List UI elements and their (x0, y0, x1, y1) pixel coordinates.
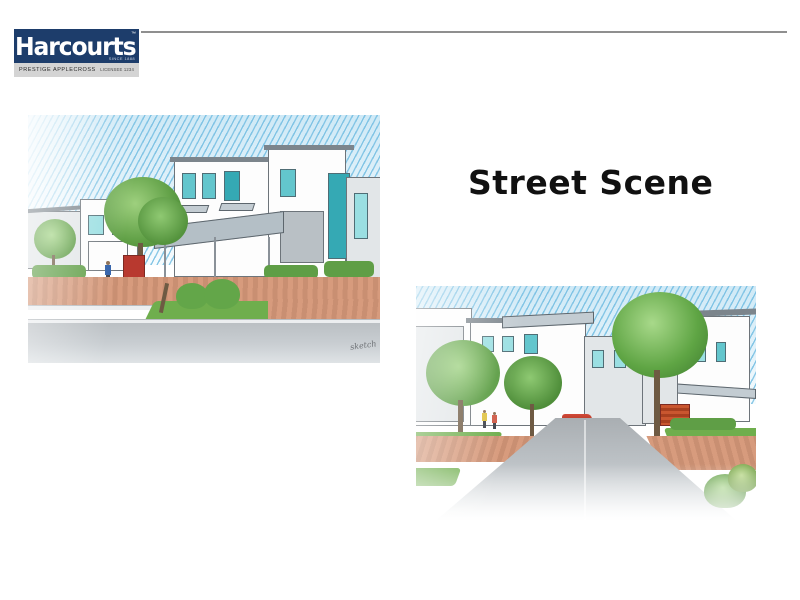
streetscape-render-left: sketch (28, 115, 380, 363)
roof-centre (170, 157, 276, 162)
slide-canvas: Harcourts ™ SINCE 1888 PRESTIGE APPLECRO… (0, 0, 800, 600)
hedge-right (324, 261, 374, 277)
streetscape-render-right (416, 286, 756, 526)
road-centre-line (584, 420, 586, 524)
window-left-a (88, 215, 104, 235)
shrub-foreground-right-b (728, 464, 756, 492)
roof-right-tower (264, 145, 354, 150)
kerb-line-lower (28, 319, 380, 323)
header-divider-rule (141, 31, 787, 33)
logo-trademark: ™ (131, 32, 136, 37)
logo-brand-bar: Harcourts ™ SINCE 1888 (14, 29, 139, 63)
tree-foliage-left-street (426, 340, 500, 406)
house-window-side (716, 342, 726, 362)
shrub-median-b (204, 279, 240, 309)
tree-foliage-small (34, 219, 76, 259)
harcourts-logo: Harcourts ™ SINCE 1888 PRESTIGE APPLECRO… (14, 29, 139, 77)
verge-foreground-left (416, 468, 461, 486)
window-centre-upper-b (202, 173, 216, 199)
canopy-post-b (214, 237, 216, 279)
tree-foliage-right-large (612, 292, 708, 378)
tree-trunk-right-large (654, 370, 660, 440)
page-title: Street Scene (468, 163, 713, 202)
road-surface (28, 321, 380, 363)
logo-since-text: SINCE 1888 (109, 57, 135, 61)
apartment-window-d (592, 350, 604, 368)
pedestrian-figure-a (482, 410, 487, 428)
window-far-right (354, 193, 368, 239)
apartment-window-c (524, 334, 538, 354)
hedge-right-house (670, 418, 736, 430)
logo-office-name: PRESTIGE APPLECROSS (19, 67, 96, 73)
tree-foliage-mid (504, 356, 562, 410)
pedestrian-figure-b (492, 412, 497, 429)
tree-foliage-left-lobe (138, 197, 188, 245)
window-centre-upper-c (224, 171, 240, 201)
window-centre-upper-a (182, 173, 196, 199)
facade-panel-right (280, 211, 324, 263)
logo-office-licence: LICENSEE 1234 (100, 67, 134, 72)
awning-centre-b (219, 203, 256, 211)
logo-office-bar: PRESTIGE APPLECROSS LICENSEE 1234 (14, 63, 139, 77)
logo-brand-text: Harcourts (15, 34, 138, 59)
window-right-upper (280, 169, 296, 197)
apartment-window-b (502, 336, 514, 352)
